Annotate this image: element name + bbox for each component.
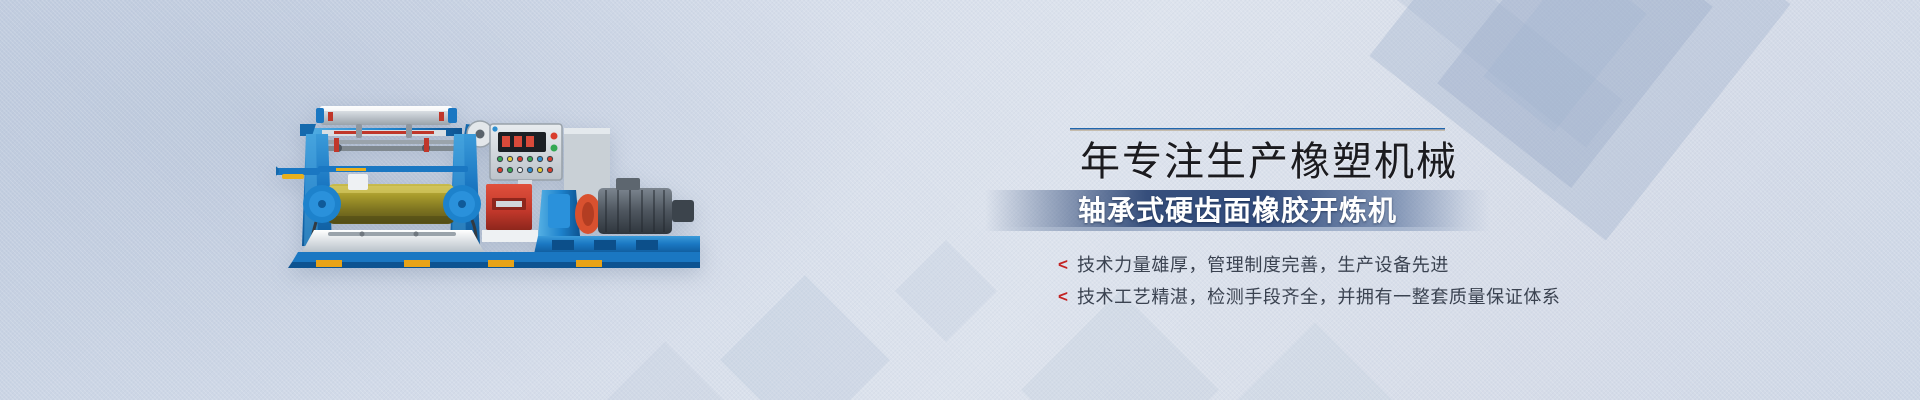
feature-text: 技术力量雄厚，管理制度完善，生产设备先进 [1077, 251, 1449, 277]
feature-text: 技术工艺精湛，检测手段齐全，并拥有一整套质量保证体系 [1077, 283, 1561, 309]
chevron-left-icon: < [1058, 288, 1068, 305]
feature-list: < 技术力量雄厚，管理制度完善，生产设备先进 < 技术工艺精湛，检测手段齐全，并… [1058, 248, 1561, 312]
promo-banner: 年专注生产橡塑机械 轴承式硬齿面橡胶开炼机 < 技术力量雄厚，管理制度完善，生产… [0, 0, 1920, 400]
feature-item: < 技术工艺精湛，检测手段齐全，并拥有一整套质量保证体系 [1058, 280, 1561, 312]
feature-item: < 技术力量雄厚，管理制度完善，生产设备先进 [1058, 248, 1561, 280]
page-title: 年专注生产橡塑机械 [1080, 138, 1458, 186]
chevron-left-icon: < [1058, 256, 1068, 273]
product-subtitle: 轴承式硬齿面橡胶开炼机 [1078, 195, 1397, 227]
headline-block: 年专注生产橡塑机械 轴承式硬齿面橡胶开炼机 < 技术力量雄厚，管理制度完善，生产… [0, 0, 1920, 400]
title-divider [1070, 128, 1445, 131]
